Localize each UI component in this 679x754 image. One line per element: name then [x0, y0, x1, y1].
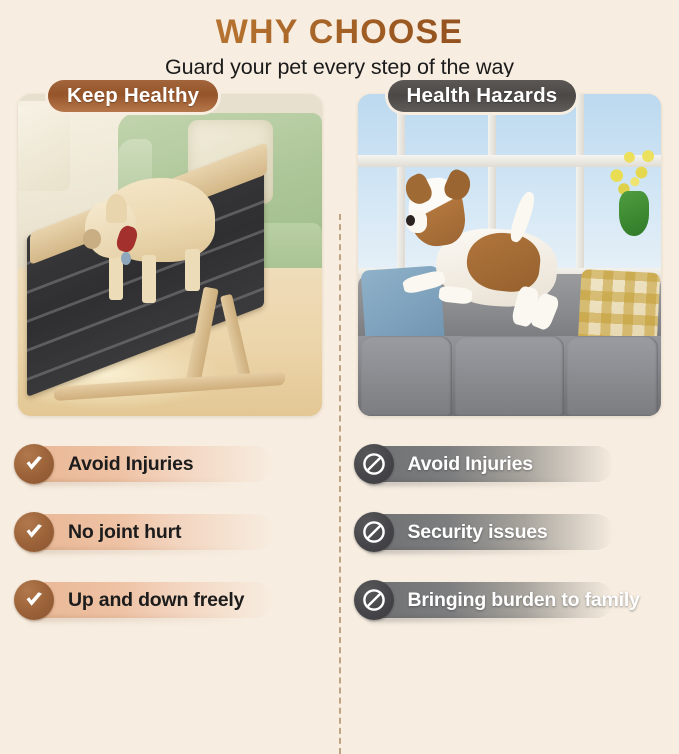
feature-label: Avoid Injuries — [68, 453, 193, 476]
comparison-columns: Keep Healthy — [0, 94, 679, 644]
feature-bar-shadow — [368, 616, 583, 622]
column-health-hazards: Health Hazards — [340, 94, 679, 644]
photo-wrap-right: Health Hazards — [340, 94, 679, 416]
cream-pillow — [18, 107, 70, 191]
page-title: WHY CHOOSE — [0, 12, 679, 52]
window-mullion — [576, 94, 584, 274]
frenchie-muzzle — [83, 229, 101, 248]
badge-health-hazards: Health Hazards — [388, 80, 577, 112]
feature-bar-shadow — [28, 616, 243, 622]
feature-item: Avoid Injuries — [340, 440, 679, 488]
header: WHY CHOOSE Guard your pet every step of … — [0, 0, 679, 80]
badge-keep-healthy: Keep Healthy — [48, 80, 218, 112]
prohibited-icon — [354, 444, 394, 484]
feature-bar-shadow — [28, 480, 243, 486]
feature-item: No joint hurt — [0, 508, 340, 556]
frenchie-mid-leg — [142, 255, 156, 303]
frenchie-collar-tag — [121, 252, 131, 265]
feature-item: Security issues — [340, 508, 679, 556]
feature-label: Up and down freely — [68, 589, 244, 612]
feature-item: Bringing burden to family — [340, 576, 679, 624]
feature-label: Avoid Injuries — [408, 453, 533, 476]
feature-label: Bringing burden to family — [408, 589, 640, 612]
badge-label: Health Hazards — [407, 84, 558, 108]
dog-on-ramp-photo — [18, 94, 322, 416]
badge-label: Keep Healthy — [67, 84, 199, 108]
check-icon — [14, 444, 54, 484]
page-subtitle: Guard your pet every step of the way — [0, 55, 679, 80]
prohibited-icon — [354, 512, 394, 552]
feature-bar-shadow — [28, 548, 243, 554]
dog-jumping-photo — [358, 94, 662, 416]
green-vase — [619, 191, 649, 236]
column-keep-healthy: Keep Healthy — [0, 94, 340, 644]
feature-bar-shadow — [368, 480, 583, 486]
feature-bar-shadow — [368, 548, 583, 554]
check-icon — [14, 580, 54, 620]
check-icon — [14, 512, 54, 552]
feature-item: Avoid Injuries — [0, 440, 340, 488]
photo-wrap-left: Keep Healthy — [0, 94, 340, 416]
window-mullion — [397, 94, 405, 274]
prohibited-icon — [354, 580, 394, 620]
sofa-cushion — [455, 336, 564, 417]
feature-label: No joint hurt — [68, 521, 181, 544]
terrier-nose — [406, 215, 415, 226]
feature-list-left: Avoid Injuries No joint hurt — [0, 440, 340, 624]
sofa-cushion — [361, 336, 452, 417]
frenchie-rear-leg — [185, 249, 200, 291]
feature-label: Security issues — [408, 521, 548, 544]
frenchie-ear — [106, 194, 127, 223]
feature-item: Up and down freely — [0, 576, 340, 624]
sofa-cushion — [567, 336, 658, 417]
feature-list-right: Avoid Injuries Security issues — [340, 440, 679, 624]
